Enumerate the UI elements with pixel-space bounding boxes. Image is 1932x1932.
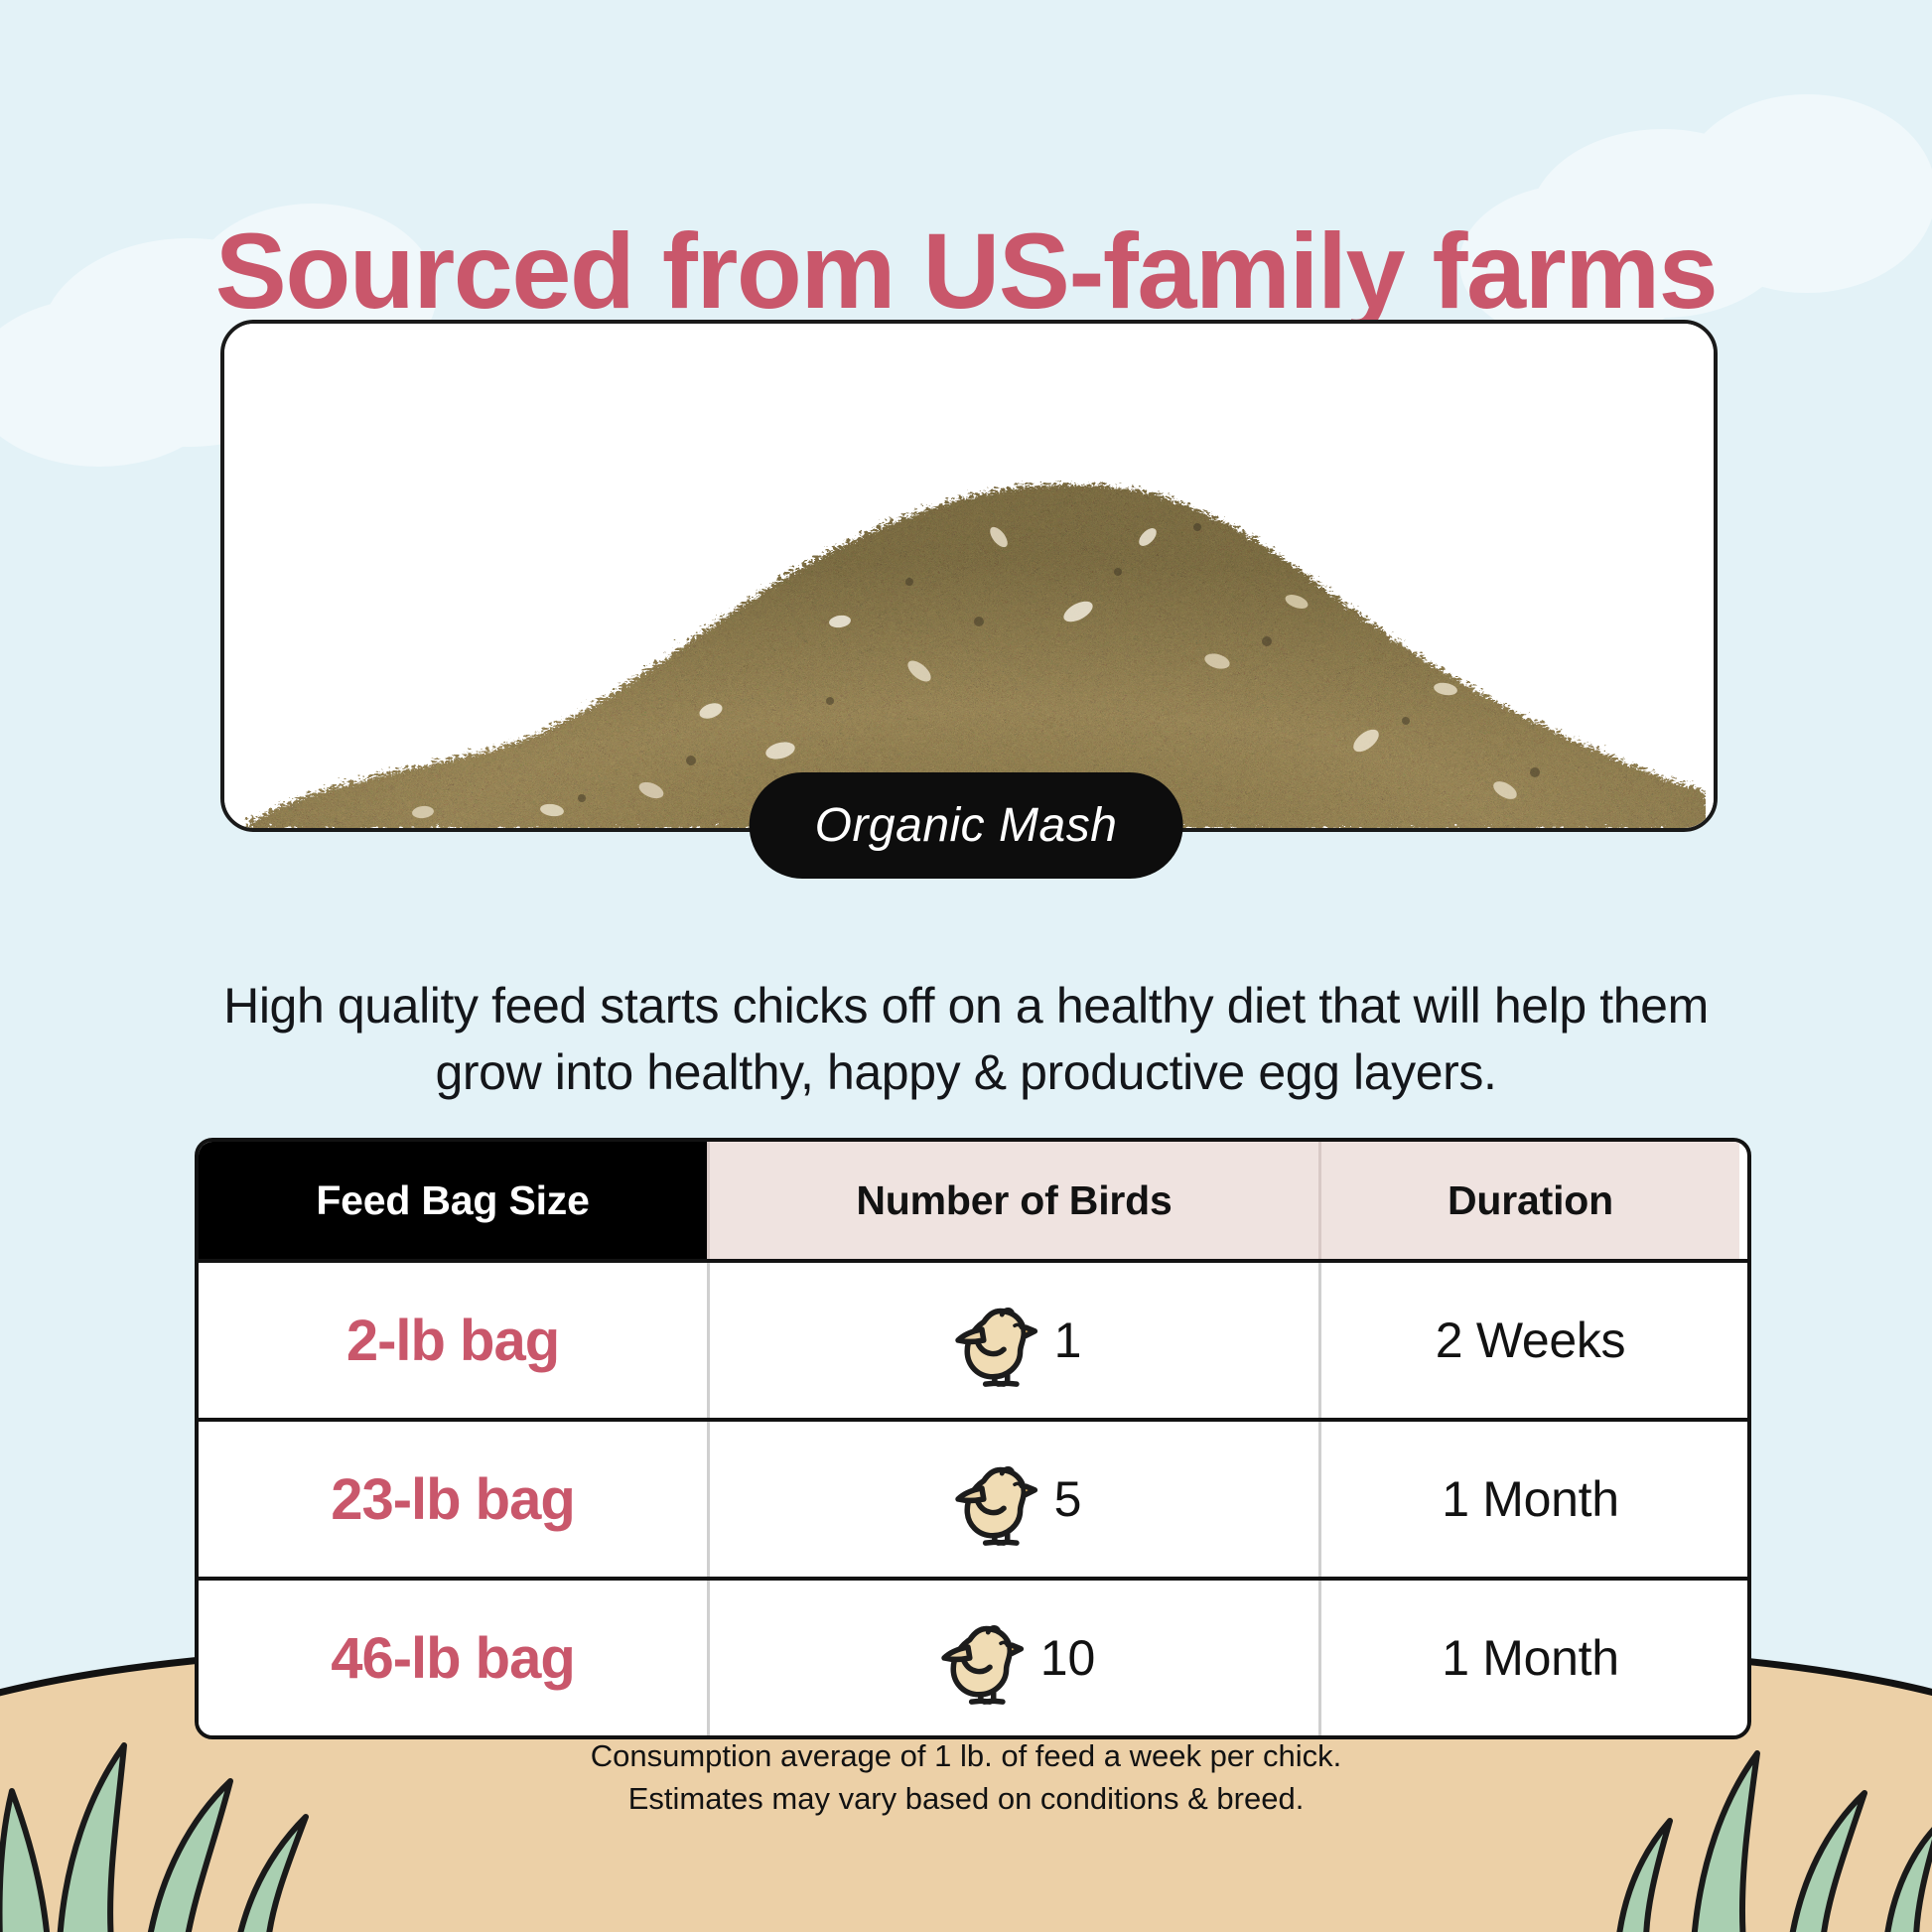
chick-icon (933, 1610, 1025, 1706)
table-row: 46-lb bag (199, 1577, 1747, 1735)
cell-number-of-birds: 10 (707, 1581, 1318, 1735)
infographic-canvas: Sourced from US-family farms (0, 0, 1932, 1932)
product-description: High quality feed starts chicks off on a… (169, 973, 1763, 1106)
footnote: Consumption average of 1 lb. of feed a w… (0, 1735, 1932, 1821)
feed-guide-table: Feed Bag Size Number of Birds Duration 2… (195, 1138, 1751, 1739)
column-header-duration: Duration (1318, 1142, 1739, 1259)
cell-feed-bag-size: 46-lb bag (199, 1581, 707, 1735)
cell-number-of-birds: 5 (707, 1422, 1318, 1577)
cell-duration: 1 Month (1318, 1581, 1739, 1735)
cell-feed-bag-size: 23-lb bag (199, 1422, 707, 1577)
column-header-number-of-birds: Number of Birds (707, 1142, 1318, 1259)
page-title: Sourced from US-family farms (0, 212, 1932, 331)
table-header-row: Feed Bag Size Number of Birds Duration (199, 1142, 1747, 1259)
table-row: 23-lb bag (199, 1418, 1747, 1577)
product-image-card (220, 320, 1718, 832)
bird-count: 10 (1040, 1629, 1096, 1687)
product-variant-badge: Organic Mash (750, 772, 1183, 879)
cell-feed-bag-size: 2-lb bag (199, 1263, 707, 1418)
chick-icon (947, 1451, 1038, 1547)
cell-number-of-birds: 1 (707, 1263, 1318, 1418)
organic-mash-photo (224, 324, 1714, 828)
table-row: 2-lb bag (199, 1259, 1747, 1418)
chick-icon (947, 1293, 1038, 1388)
footnote-line-1: Consumption average of 1 lb. of feed a w… (0, 1735, 1932, 1778)
footnote-line-2: Estimates may vary based on conditions &… (0, 1778, 1932, 1821)
bird-count: 1 (1054, 1311, 1082, 1369)
cell-duration: 2 Weeks (1318, 1263, 1739, 1418)
column-header-feed-bag-size: Feed Bag Size (199, 1142, 707, 1259)
bird-count: 5 (1054, 1470, 1082, 1528)
cell-duration: 1 Month (1318, 1422, 1739, 1577)
